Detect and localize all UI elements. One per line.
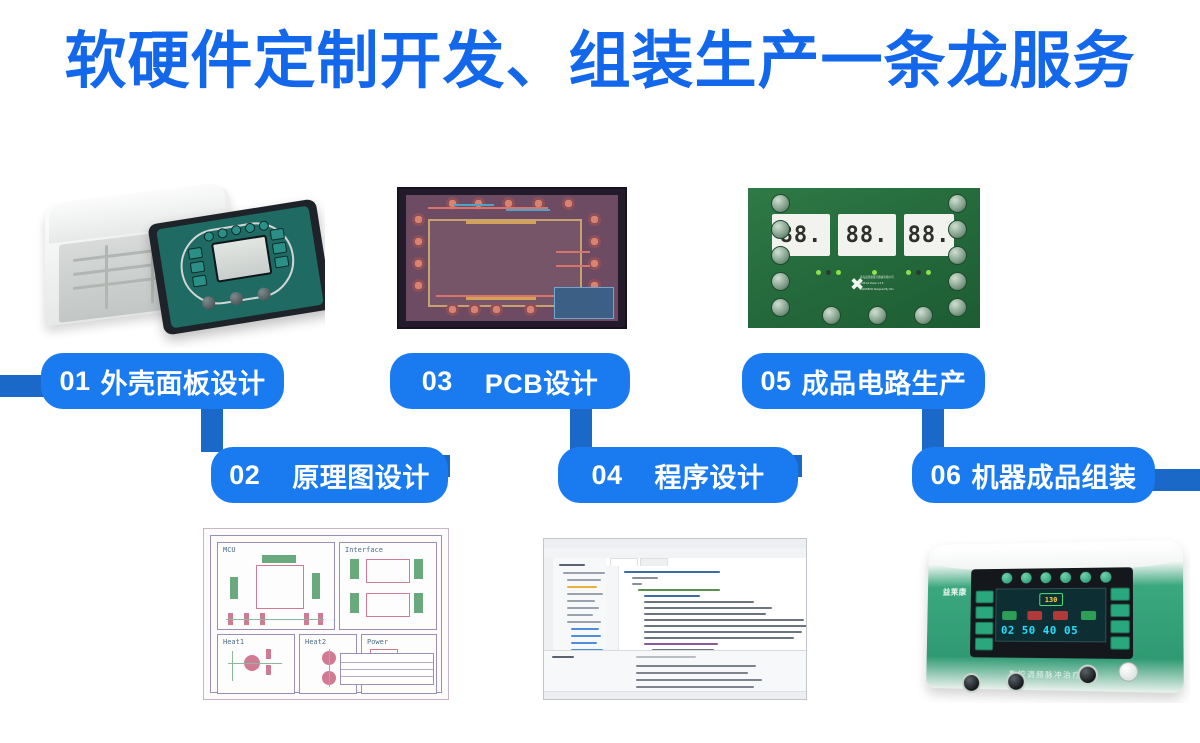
board-standoff xyxy=(948,220,967,239)
lcd-tile xyxy=(1027,611,1042,620)
step-label-05: 成品电路生产 xyxy=(802,362,967,401)
schematic-block-interface: Interface xyxy=(339,542,437,630)
ide-status-bar xyxy=(544,691,806,699)
step-label-04: 程序设计 xyxy=(655,456,765,495)
status-led xyxy=(826,270,831,275)
lcd-readout: 02 50 40 05 xyxy=(1001,624,1100,637)
step-label-01: 外壳面板设计 xyxy=(101,362,266,401)
schematic-part xyxy=(262,555,296,563)
board-standoff xyxy=(771,194,790,213)
faceplate-surface xyxy=(156,206,324,329)
device-top-key xyxy=(1080,572,1091,583)
ide-editor-tab[interactable] xyxy=(610,558,638,566)
silkscreen-company: 青岛益莱康医疗器械有限公司 xyxy=(860,276,894,279)
device-output-jack xyxy=(1078,665,1098,686)
pcb-pad xyxy=(412,279,425,292)
device-output-jack xyxy=(962,673,981,693)
page-title: 软硬件定制开发、组装生产一条龙服务 xyxy=(0,28,1200,96)
schematic-part xyxy=(414,593,423,613)
pcb-trace xyxy=(556,251,590,253)
enclosure-panel-photo xyxy=(35,183,325,348)
schematic-wire xyxy=(232,651,233,681)
seven-segment-display: 88. xyxy=(838,214,896,256)
schematic-part xyxy=(414,559,423,579)
schematic-frame: MCU Interface xyxy=(210,535,442,693)
pcb-trace xyxy=(556,265,590,267)
pcb-pad xyxy=(490,303,503,316)
step-number-04: 04 xyxy=(591,460,622,491)
schematic-block-mcu: MCU xyxy=(217,542,335,630)
device-output-jack xyxy=(1006,672,1026,692)
faceplate-key xyxy=(272,242,288,255)
schematic-wire xyxy=(226,619,324,620)
device-side-key xyxy=(1110,636,1130,649)
pcb-trace xyxy=(506,209,550,211)
device-top-key xyxy=(1021,572,1032,583)
device-model-name: 数控调频脉冲治疗仪 xyxy=(970,668,1133,682)
schematic-part xyxy=(266,665,271,675)
schematic-block-label: MCU xyxy=(223,546,236,554)
faceplate-key xyxy=(192,274,208,287)
lcd-tile xyxy=(1081,611,1096,620)
pcb-pad xyxy=(446,303,459,316)
silkscreen-date: 2020/08/02 Designed By Zhu xyxy=(860,288,894,291)
pcb-trace xyxy=(454,204,494,206)
step-pill-01[interactable]: 01 外壳面板设计 xyxy=(41,353,284,409)
schematic-part xyxy=(366,559,410,583)
device-side-key xyxy=(975,638,993,651)
green-circuit-board-photo: 88. 88. 88. ✖ 青岛益莱康医疗器械有限公司 PCB A4 Visio… xyxy=(748,188,980,328)
device-side-key xyxy=(1110,604,1130,617)
lcd-tile xyxy=(1002,611,1017,620)
device-side-key xyxy=(1110,620,1130,633)
schematic-part xyxy=(256,565,304,609)
pcb-canvas xyxy=(406,195,618,321)
step-number-03: 03 xyxy=(422,366,453,397)
schematic-block-label: Power xyxy=(367,638,388,646)
ide-line-gutter xyxy=(606,566,619,651)
step-label-02: 原理图设计 xyxy=(292,456,430,495)
pcb-pad xyxy=(524,303,537,316)
ide-screenshot xyxy=(543,538,807,700)
schematic-block-label: Heat2 xyxy=(305,638,326,646)
schematic-wire xyxy=(329,649,330,687)
step-pill-06[interactable]: 06 机器成品组装 xyxy=(912,447,1155,503)
board-standoff xyxy=(948,246,967,265)
silkscreen-revision: PCB A4 Vision 1.0.5 xyxy=(860,282,883,285)
poster-canvas: 软硬件定制开发、组装生产一条龙服务 xyxy=(0,0,1200,743)
faceplate-key xyxy=(274,255,290,268)
device-body: 益莱康 130 xyxy=(926,540,1184,693)
board-standoff xyxy=(948,194,967,213)
schematic-block-label: Heat1 xyxy=(223,638,244,646)
schematic-block-heat1: Heat1 xyxy=(217,634,295,694)
step-number-02: 02 xyxy=(229,460,260,491)
board-standoff xyxy=(771,298,790,317)
step-number-01: 01 xyxy=(59,366,90,397)
schematic-block-label: Interface xyxy=(345,546,383,554)
schematic-part xyxy=(350,593,359,613)
device-side-key xyxy=(975,622,993,635)
faceplate-key xyxy=(188,247,204,260)
enclosure-rib xyxy=(105,245,108,309)
device-power-knob xyxy=(1119,662,1139,682)
pcb-pad xyxy=(412,213,425,226)
lcd-value-badge: 130 xyxy=(1039,593,1063,606)
schematic-part xyxy=(266,649,271,659)
device-side-key xyxy=(976,591,994,604)
device-top-key xyxy=(1100,572,1111,583)
ide-code-editor[interactable] xyxy=(606,558,806,651)
device-top-key xyxy=(1060,572,1071,583)
pcb-pad xyxy=(588,235,601,248)
schematic-title-block xyxy=(340,653,434,685)
step-number-05: 05 xyxy=(760,366,791,397)
board-standoff xyxy=(948,298,967,317)
pcb-goldfinger xyxy=(466,297,536,300)
ide-editor-tab[interactable] xyxy=(640,558,668,566)
device-top-key xyxy=(1002,573,1013,584)
device-side-key xyxy=(975,606,993,619)
device-lcd-screen: 130 02 50 40 05 xyxy=(995,588,1106,643)
device-brand: 益莱康 xyxy=(943,587,967,598)
pcb-pad xyxy=(588,213,601,226)
board-standoff xyxy=(948,272,967,291)
status-led xyxy=(872,270,877,275)
status-led xyxy=(836,270,841,275)
pcb-highlighted-module xyxy=(554,287,614,319)
step-pill-04[interactable]: 04 程序设计 xyxy=(558,447,798,503)
pcb-pad xyxy=(588,257,601,270)
pcb-pad xyxy=(562,197,575,210)
step-pill-03[interactable]: 03 PCB设计 xyxy=(390,353,630,409)
status-led xyxy=(816,270,821,275)
pcb-pad xyxy=(412,257,425,270)
status-led xyxy=(926,270,931,275)
schematic-wire xyxy=(228,663,282,664)
ide-tree-title xyxy=(559,564,585,566)
lcd-tile xyxy=(1053,611,1068,620)
step-pill-05[interactable]: 05 成品电路生产 xyxy=(742,353,985,409)
step-label-06: 机器成品组装 xyxy=(972,456,1137,495)
schematic-part xyxy=(312,573,320,599)
schematic-part xyxy=(366,593,410,617)
status-led xyxy=(916,270,921,275)
pcb-pad xyxy=(468,303,481,316)
status-led xyxy=(906,270,911,275)
schematic-screenshot: MCU Interface xyxy=(203,528,449,700)
faceplate-key xyxy=(270,228,286,241)
schematic-part xyxy=(230,577,238,599)
board-standoff xyxy=(868,306,887,325)
board-standoff xyxy=(822,306,841,325)
board-standoff xyxy=(771,220,790,239)
pcb-goldfinger xyxy=(466,221,536,224)
faceplate-key xyxy=(190,261,206,274)
device-top-key xyxy=(1040,572,1051,583)
pcb-layout-screenshot xyxy=(397,187,627,329)
device-front-panel: 130 02 50 40 05 xyxy=(970,567,1133,659)
seven-segment-display: 88. xyxy=(904,214,954,256)
device-side-key xyxy=(1110,588,1129,601)
board-standoff xyxy=(771,246,790,265)
step-label-03: PCB设计 xyxy=(485,362,599,401)
board-standoff xyxy=(771,272,790,291)
board-standoff xyxy=(914,306,933,325)
schematic-part xyxy=(350,559,359,579)
step-number-06: 06 xyxy=(930,460,961,491)
pcb-pad xyxy=(412,235,425,248)
finished-device-photo: 益莱康 130 xyxy=(912,528,1190,703)
step-pill-02[interactable]: 02 原理图设计 xyxy=(211,447,448,503)
